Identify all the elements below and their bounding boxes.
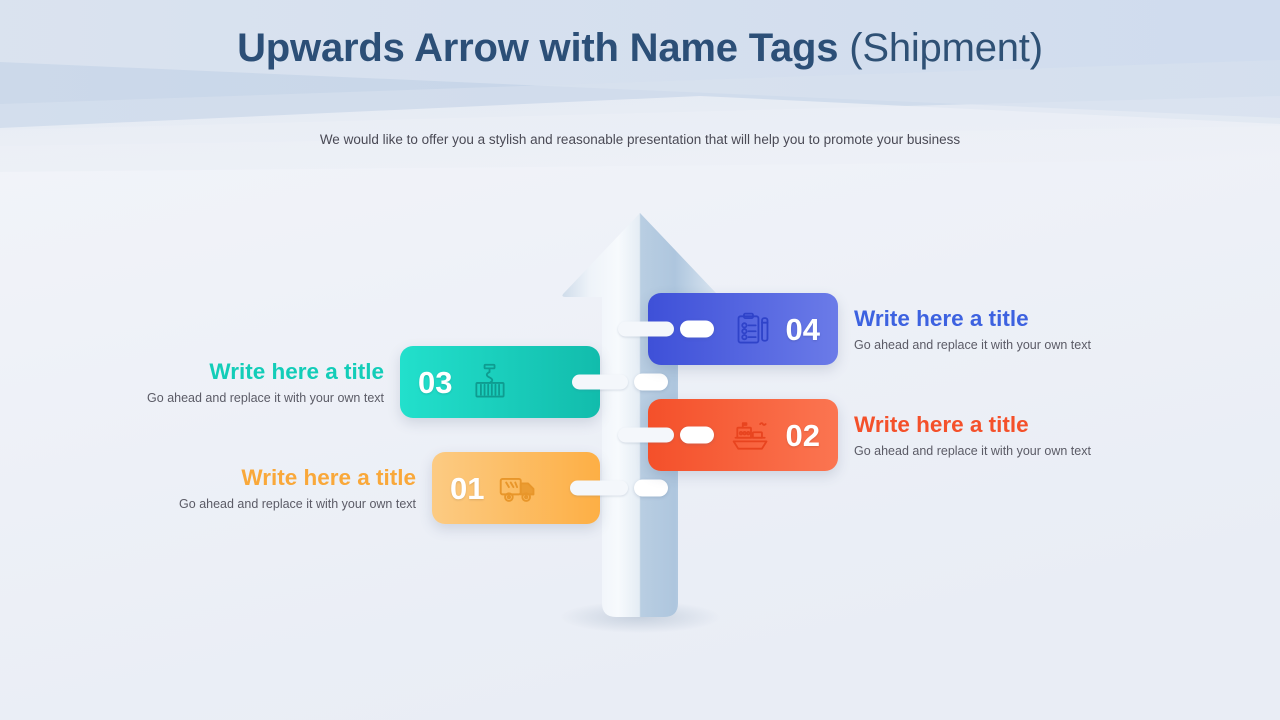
item-04-texts: Write here a title Go ahead and replace … bbox=[854, 306, 1091, 353]
item-row-02: 02 Write here a title Go ahead and repla… bbox=[648, 399, 1280, 471]
item-02-connector bbox=[618, 428, 730, 443]
item-01-connector bbox=[570, 481, 680, 496]
cargo-ship-icon bbox=[730, 417, 772, 453]
item-04-title: Write here a title bbox=[854, 306, 1029, 332]
item-01-title: Write here a title bbox=[241, 465, 416, 491]
item-02-description: Go ahead and replace it with your own te… bbox=[854, 444, 1091, 458]
item-04-number: 04 bbox=[786, 314, 820, 345]
clipboard-checklist-icon bbox=[734, 310, 772, 348]
delivery-truck-icon bbox=[498, 471, 538, 505]
item-03-description: Go ahead and replace it with your own te… bbox=[147, 391, 384, 405]
page-title: Upwards Arrow with Name Tags (Shipment) bbox=[237, 26, 1043, 71]
item-02-texts: Write here a title Go ahead and replace … bbox=[854, 412, 1091, 459]
item-03-texts: Write here a title Go ahead and replace … bbox=[147, 359, 384, 406]
slide-subtitle: We would like to offer you a stylish and… bbox=[0, 132, 1280, 147]
item-row-03: Write here a title Go ahead and replace … bbox=[0, 346, 600, 418]
item-01-description: Go ahead and replace it with your own te… bbox=[179, 497, 416, 511]
slide-title-wrap: Upwards Arrow with Name Tags (Shipment) bbox=[0, 26, 1280, 71]
item-row-04: 04 Write here a title Go ahead and repla… bbox=[648, 293, 1280, 365]
item-card-03[interactable]: 03 bbox=[400, 346, 600, 418]
item-01-number: 01 bbox=[450, 473, 484, 504]
item-04-description: Go ahead and replace it with your own te… bbox=[854, 338, 1091, 352]
item-02-title: Write here a title bbox=[854, 412, 1029, 438]
page-title-main: Upwards Arrow with Name Tags bbox=[237, 26, 849, 70]
item-03-connector bbox=[572, 375, 680, 390]
item-03-number: 03 bbox=[418, 367, 452, 398]
item-row-01: Write here a title Go ahead and replace … bbox=[0, 452, 600, 524]
shipping-container-crane-icon bbox=[470, 362, 510, 402]
item-04-connector bbox=[618, 322, 730, 337]
item-01-texts: Write here a title Go ahead and replace … bbox=[179, 465, 416, 512]
slide-canvas: Upwards Arrow with Name Tags (Shipment) … bbox=[0, 0, 1280, 720]
item-03-title: Write here a title bbox=[209, 359, 384, 385]
page-title-suffix: (Shipment) bbox=[849, 26, 1043, 70]
item-02-number: 02 bbox=[786, 420, 820, 451]
